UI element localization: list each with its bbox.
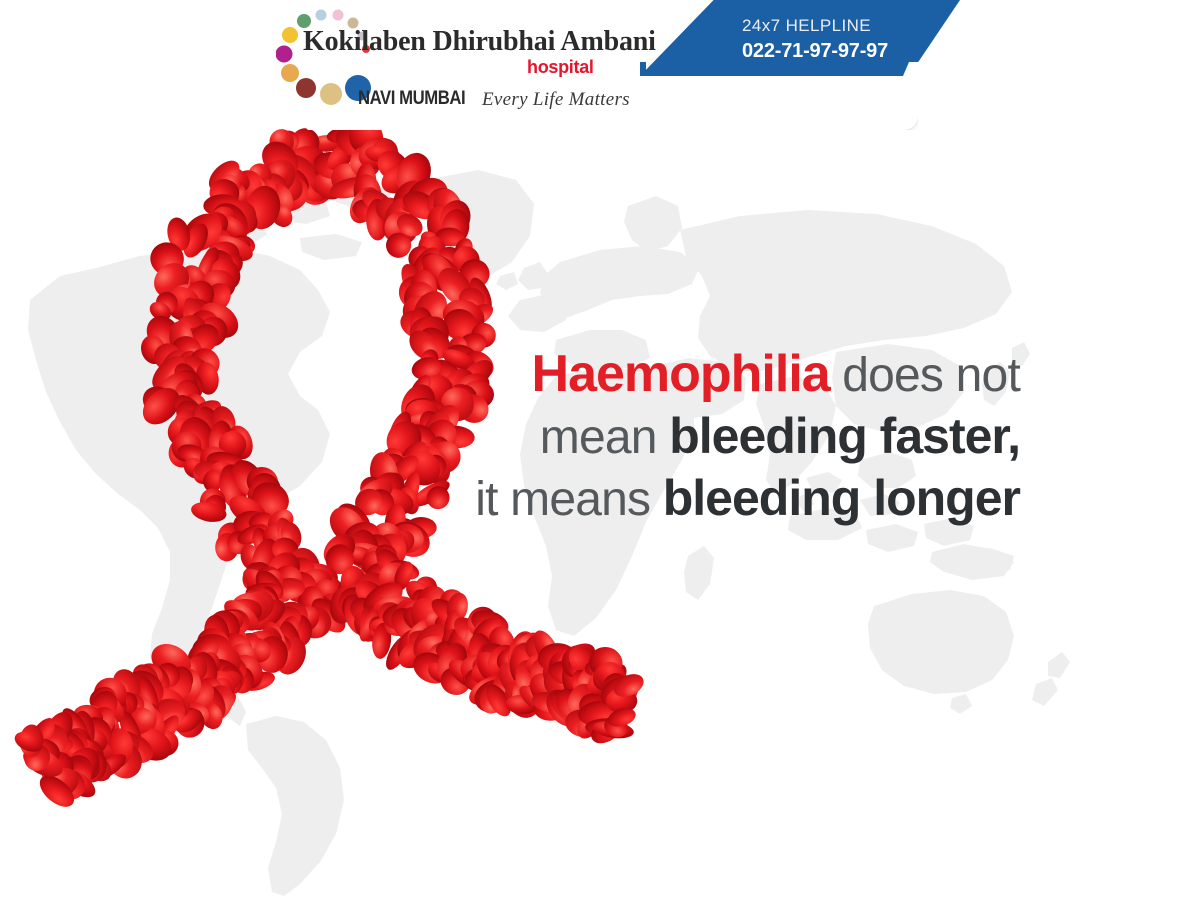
blood-cell: [179, 391, 209, 420]
blood-cell: [559, 642, 599, 682]
blood-cell: [601, 712, 631, 740]
blood-cell: [308, 574, 345, 611]
blood-cell: [506, 647, 540, 691]
blood-cell: [207, 177, 242, 210]
blood-cell: [406, 626, 450, 657]
message-block: Haemophilia does not mean bleeding faste…: [475, 348, 1020, 535]
blood-cell: [18, 742, 67, 783]
message-line-2: mean bleeding faster,: [475, 411, 1020, 462]
blood-cell: [230, 584, 280, 630]
blood-cell: [190, 406, 222, 447]
blood-cell: [193, 402, 232, 447]
logo-dot: [296, 78, 316, 98]
blood-cell: [408, 476, 453, 511]
blood-cell: [475, 680, 510, 718]
blood-cell: [444, 591, 471, 625]
blood-cell: [388, 521, 427, 557]
blood-cell: [184, 395, 225, 430]
blood-cell: [351, 196, 384, 221]
blood-cell: [158, 693, 186, 725]
blood-cell: [270, 576, 307, 601]
blood-cell: [606, 705, 638, 730]
blood-cell: [261, 182, 296, 222]
blood-cell: [422, 452, 449, 480]
blood-cell: [520, 629, 559, 668]
blood-cell: [203, 666, 245, 702]
blood-cell: [470, 321, 498, 349]
blood-cell: [397, 290, 439, 333]
blood-cell: [476, 641, 505, 681]
blood-cell: [219, 605, 254, 639]
blood-cell: [216, 249, 247, 281]
blood-cell: [90, 707, 124, 742]
blood-cell: [523, 666, 570, 713]
blood-cell: [192, 673, 227, 708]
blood-cell: [404, 325, 443, 365]
blood-cell: [424, 204, 457, 249]
blood-cell: [207, 203, 240, 237]
blood-cell: [52, 762, 100, 803]
blood-cell: [350, 575, 390, 613]
blood-cell: [429, 185, 467, 232]
blood-cell: [149, 664, 193, 704]
blood-cell: [449, 612, 491, 652]
helpline-label: 24x7 HELPLINE: [742, 16, 871, 36]
blood-cell: [172, 705, 207, 741]
blood-cell: [359, 532, 394, 567]
blood-cell: [391, 514, 420, 542]
blood-cell: [404, 371, 436, 410]
blood-cell: [419, 373, 455, 407]
blood-cell: [120, 704, 157, 738]
blood-cell: [239, 627, 284, 656]
blood-cell: [447, 335, 469, 362]
blood-cell: [511, 656, 550, 701]
blood-cell: [162, 670, 195, 701]
blood-cell: [392, 161, 428, 196]
blood-cell: [308, 159, 344, 198]
blood-cell: [427, 593, 469, 631]
blood-cell: [440, 207, 472, 246]
blood-cell: [403, 411, 448, 433]
blood-cell: [404, 396, 449, 427]
blood-cell: [76, 747, 111, 786]
blood-cell: [407, 311, 456, 364]
blood-cell: [404, 398, 441, 429]
blood-cell: [270, 632, 311, 679]
blood-cell: [150, 244, 186, 280]
blood-cell: [217, 234, 252, 259]
blood-cell: [441, 628, 468, 655]
blood-cell: [246, 476, 295, 523]
blood-cell: [256, 584, 283, 620]
blood-cell: [323, 500, 372, 550]
blood-cell: [166, 319, 196, 360]
blood-cell: [229, 233, 257, 258]
blood-cell: [278, 520, 304, 552]
blood-cell: [140, 309, 188, 359]
blood-cell: [409, 354, 444, 383]
blood-cell: [137, 332, 169, 367]
blood-cell: [146, 350, 190, 395]
blood-cell: [438, 635, 472, 665]
blood-cell: [380, 415, 428, 465]
blood-cell: [266, 631, 294, 657]
blood-cell: [498, 673, 547, 724]
blood-cell: [418, 586, 447, 611]
blood-cell: [364, 144, 400, 165]
blood-cell: [242, 183, 284, 233]
blood-cell: [374, 557, 416, 598]
blood-cell: [546, 657, 591, 689]
blood-cell: [80, 751, 117, 787]
blood-cell: [432, 375, 461, 409]
blood-cell: [236, 171, 273, 215]
blood-cell: [416, 248, 462, 298]
blood-cell: [205, 168, 245, 208]
blood-cell: [464, 670, 511, 711]
blood-cell: [272, 565, 303, 595]
blood-cell: [530, 689, 567, 715]
blood-cell: [469, 615, 501, 647]
blood-cell: [591, 719, 634, 741]
blood-cell: [344, 182, 386, 229]
blood-cell: [217, 609, 248, 639]
blood-cell: [242, 559, 270, 588]
blood-cell: [373, 541, 400, 566]
blood-cell: [169, 359, 205, 400]
blood-cell: [425, 658, 459, 687]
blood-cell: [124, 721, 177, 767]
blood-cell: [386, 174, 434, 224]
blood-cell: [247, 535, 283, 583]
blood-cell: [427, 434, 453, 464]
blood-cell: [515, 631, 536, 660]
blood-cell: [414, 407, 451, 450]
blood-cell: [173, 381, 202, 415]
logo-dot: [316, 10, 327, 21]
blood-cell: [271, 599, 310, 634]
blood-cell: [404, 591, 455, 645]
blood-cell: [194, 207, 233, 244]
blood-cell: [128, 659, 163, 694]
blood-cell: [198, 249, 239, 288]
blood-cell: [166, 364, 209, 408]
blood-cell: [346, 142, 384, 181]
blood-cell: [252, 152, 303, 203]
blood-cell: [526, 651, 567, 693]
blood-cell: [591, 657, 632, 696]
blood-cell: [204, 673, 237, 708]
blood-cell: [402, 612, 446, 653]
blood-cell: [364, 484, 400, 520]
blood-cell: [372, 145, 415, 187]
blood-cell: [190, 631, 233, 666]
blood-cell: [253, 177, 278, 206]
blood-cell: [242, 566, 282, 604]
blood-cell: [572, 684, 602, 712]
blood-cell: [276, 619, 306, 664]
blood-cell: [396, 260, 434, 307]
blood-cell: [444, 654, 488, 694]
blood-cell: [509, 676, 531, 709]
blood-cell: [415, 585, 451, 629]
blood-cell: [243, 593, 291, 636]
blood-cell: [234, 520, 271, 549]
blood-cell: [463, 665, 494, 692]
blood-cell: [219, 625, 251, 660]
blood-cell: [519, 678, 551, 710]
blood-cell: [203, 155, 245, 196]
blood-cell: [71, 702, 105, 731]
blood-cell: [62, 733, 100, 771]
blood-cell: [548, 650, 582, 684]
blood-cell: [572, 700, 609, 743]
blood-cell: [26, 734, 64, 768]
blood-cell: [564, 652, 597, 683]
blood-cell: [415, 235, 440, 275]
blood-cell: [515, 681, 558, 721]
blood-cell: [159, 280, 208, 328]
blood-cell: [309, 168, 348, 204]
blood-cell: [151, 287, 182, 318]
blood-cell: [85, 682, 120, 715]
blood-cell: [175, 206, 229, 259]
blood-cell: [205, 253, 246, 295]
blood-cell: [109, 726, 159, 769]
blood-cell: [179, 220, 213, 262]
blood-cell: [384, 515, 437, 564]
blood-cell: [351, 572, 384, 601]
blood-cell: [247, 580, 295, 618]
blood-cell: [398, 276, 430, 309]
blood-cell: [586, 712, 626, 749]
blood-cell: [255, 134, 306, 185]
blood-cell: [87, 671, 134, 718]
blood-cell: [401, 575, 443, 615]
blood-cell: [368, 528, 412, 573]
blood-cell: [332, 581, 378, 627]
logo-dot: [320, 83, 342, 105]
blood-cell: [216, 459, 255, 497]
blood-cell: [481, 680, 515, 720]
blood-cell: [104, 726, 145, 765]
blood-cell: [182, 632, 224, 673]
blood-cell: [170, 346, 204, 382]
blood-cell: [402, 280, 437, 316]
blood-cell: [404, 437, 442, 475]
message-line-2-strong: bleeding faster,: [669, 408, 1020, 464]
blood-cell: [416, 408, 455, 457]
blood-cell: [365, 561, 394, 586]
blood-cell: [192, 244, 224, 290]
blood-cell: [208, 458, 240, 486]
blood-cell: [272, 613, 303, 657]
blood-cell: [357, 546, 393, 580]
blood-cell: [169, 664, 196, 693]
message-line-3-light: it means: [475, 473, 663, 526]
blood-cell: [355, 472, 388, 505]
blood-cell: [435, 227, 465, 248]
blood-cell: [367, 450, 402, 497]
blood-cell: [223, 165, 267, 213]
message-keyword: Haemophilia: [532, 345, 830, 403]
blood-cell: [551, 637, 600, 680]
blood-cell: [254, 567, 288, 604]
blood-cell: [383, 529, 411, 561]
blood-cell: [219, 594, 264, 636]
blood-cell: [457, 256, 493, 291]
blood-cell: [391, 559, 417, 591]
blood-cell: [435, 246, 463, 273]
blood-cell: [205, 196, 256, 248]
blood-cell: [181, 653, 211, 687]
blood-cell: [417, 227, 445, 254]
blood-cell: [253, 577, 281, 605]
blood-cell: [406, 616, 460, 670]
blood-cell: [281, 568, 320, 606]
blood-cell: [148, 725, 184, 761]
blood-cell: [313, 152, 345, 180]
blood-cell: [393, 626, 430, 669]
blood-cell: [215, 427, 250, 462]
blood-cell: [294, 603, 329, 642]
blood-cell: [458, 299, 497, 333]
blood-cell: [408, 584, 446, 620]
blood-cell: [344, 544, 375, 567]
blood-cell: [370, 137, 399, 168]
blood-cell: [577, 699, 622, 728]
blood-cell: [57, 704, 93, 745]
blood-cell: [145, 637, 197, 685]
blood-cell: [216, 608, 246, 636]
blood-cell: [280, 141, 330, 185]
blood-cell: [179, 344, 214, 372]
blood-cell: [471, 661, 502, 686]
blood-cell: [429, 355, 467, 391]
blood-cell: [388, 451, 419, 481]
blood-cell: [561, 657, 588, 700]
blood-cell: [404, 241, 437, 274]
blood-cell: [412, 321, 456, 365]
blood-cell: [193, 440, 238, 486]
blood-cell: [120, 691, 162, 739]
logo-dot: [276, 46, 293, 63]
blood-cell: [574, 662, 611, 702]
blood-cell: [239, 668, 277, 694]
blood-cell: [164, 413, 197, 448]
blood-cell: [213, 518, 247, 552]
blood-cell: [226, 202, 262, 239]
blood-cell: [50, 723, 91, 763]
blood-cell: [170, 395, 211, 435]
blood-cell: [422, 435, 467, 480]
blood-cell: [351, 472, 399, 516]
blood-cell: [137, 380, 182, 423]
blood-cell: [395, 484, 422, 517]
blood-cell: [130, 659, 167, 697]
blood-cell: [463, 602, 502, 642]
blood-cell: [451, 235, 476, 262]
blood-cell: [172, 323, 208, 355]
blood-cell: [100, 676, 137, 721]
blood-cell: [384, 408, 416, 451]
blood-cell: [170, 704, 206, 737]
blood-cell: [68, 733, 110, 775]
blood-cell: [423, 482, 454, 513]
helpline-number[interactable]: 022-71-97-97-97: [742, 40, 888, 63]
blood-cell: [431, 639, 472, 688]
brand-hospital-label: hospital: [527, 57, 594, 78]
blood-cell: [400, 418, 443, 460]
blood-cell: [564, 681, 601, 725]
blood-cell: [476, 637, 523, 680]
blood-cell: [587, 656, 628, 697]
blood-cell: [368, 201, 408, 223]
blood-cell: [295, 561, 339, 591]
blood-cell: [40, 707, 79, 751]
blood-cell: [197, 278, 236, 318]
blood-cell: [204, 448, 249, 479]
blood-cell: [352, 566, 397, 611]
blood-cell: [184, 343, 225, 384]
blood-cell: [250, 526, 273, 556]
blood-cell: [243, 463, 282, 501]
blood-cell: [243, 159, 276, 192]
blood-cell: [348, 602, 392, 647]
blood-cell: [440, 306, 479, 343]
blood-cell: [182, 318, 225, 360]
blood-cell: [214, 211, 251, 248]
blood-cell: [485, 624, 519, 664]
blood-cell: [549, 682, 594, 728]
blood-cell: [260, 603, 304, 635]
blood-cell: [245, 467, 287, 510]
blood-cell: [355, 163, 376, 203]
blood-cell: [255, 635, 289, 674]
blood-cell: [80, 702, 120, 746]
blood-cell: [192, 648, 224, 685]
blood-cell: [226, 628, 262, 660]
blood-cell: [229, 591, 269, 624]
blood-cell: [505, 636, 547, 678]
blood-cell: [433, 637, 474, 667]
blood-cell: [201, 640, 247, 685]
blood-cell: [257, 157, 293, 192]
blood-cell: [505, 694, 539, 715]
blood-cell: [417, 413, 464, 462]
blood-cell: [176, 442, 208, 465]
blood-cell: [405, 243, 446, 290]
blood-cell: [433, 611, 461, 638]
blood-cell: [214, 532, 239, 562]
message-line-1-rest: does not: [830, 349, 1020, 402]
blood-cell: [437, 384, 478, 425]
blood-cell: [354, 600, 391, 646]
blood-cell: [408, 646, 455, 689]
blood-cell: [135, 698, 164, 724]
blood-cell: [398, 443, 448, 493]
blood-cell: [465, 274, 496, 315]
blood-cell: [544, 649, 588, 688]
blood-cell: [360, 606, 376, 642]
blood-cell: [34, 723, 68, 757]
blood-cell: [228, 665, 256, 695]
blood-cell: [393, 633, 437, 674]
blood-cell: [411, 291, 446, 314]
blood-cell: [282, 561, 316, 599]
blood-cell: [393, 436, 433, 479]
